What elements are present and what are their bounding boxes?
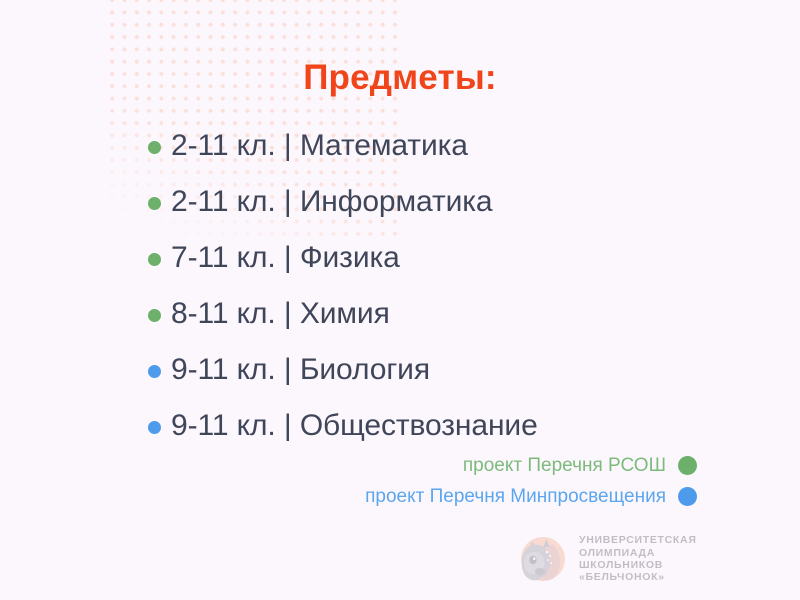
list-item: 8-11 кл. | Химия [148,286,768,342]
list-item: 7-11 кл. | Физика [148,230,768,286]
legend-item-rsosh: проект Перечня РСОШ [365,450,697,481]
squirrel-mascot-icon [516,532,570,586]
bullet-dot-icon [148,141,161,154]
logo-line: ОЛИМПИАДА [579,547,697,559]
bullet-dot-icon [148,197,161,210]
organization-logo: УНИВЕРСИТЕТСКАЯ ОЛИМПИАДА ШКОЛЬНИКОВ «БЕ… [516,532,697,586]
bullet-dot-icon [148,421,161,434]
legend-label: проект Перечня РСОШ [463,455,666,477]
page-title: Предметы: [0,58,800,98]
list-item: 2-11 кл. | Математика [148,118,768,174]
subject-label: 2-11 кл. | Математика [171,129,468,163]
subject-label: 9-11 кл. | Биология [171,353,430,387]
legend-dot-icon [678,456,697,475]
legend-label: проект Перечня Минпросвещения [365,486,666,508]
logo-line: «БЕЛЬЧОНОК» [579,571,697,583]
list-item: 9-11 кл. | Биология [148,342,768,398]
logo-line: ШКОЛЬНИКОВ [579,559,697,571]
legend-item-minprosveshcheniya: проект Перечня Минпросвещения [365,481,697,512]
list-item: 9-11 кл. | Обществознание [148,398,768,454]
bullet-dot-icon [148,365,161,378]
bullet-dot-icon [148,309,161,322]
subject-label: 2-11 кл. | Информатика [171,185,493,219]
subject-label: 8-11 кл. | Химия [171,297,390,331]
logo-line: УНИВЕРСИТЕТСКАЯ [579,534,697,546]
subject-label: 9-11 кл. | Обществознание [171,409,538,443]
subject-label: 7-11 кл. | Физика [171,241,400,275]
legend: проект Перечня РСОШ проект Перечня Минпр… [365,450,697,512]
subject-list: 2-11 кл. | Математика 2-11 кл. | Информа… [148,118,768,454]
bullet-dot-icon [148,253,161,266]
legend-dot-icon [678,487,697,506]
list-item: 2-11 кл. | Информатика [148,174,768,230]
logo-wordmark: УНИВЕРСИТЕТСКАЯ ОЛИМПИАДА ШКОЛЬНИКОВ «БЕ… [579,534,697,584]
presentation-slide: Предметы: 2-11 кл. | Математика 2-11 кл.… [0,0,800,600]
